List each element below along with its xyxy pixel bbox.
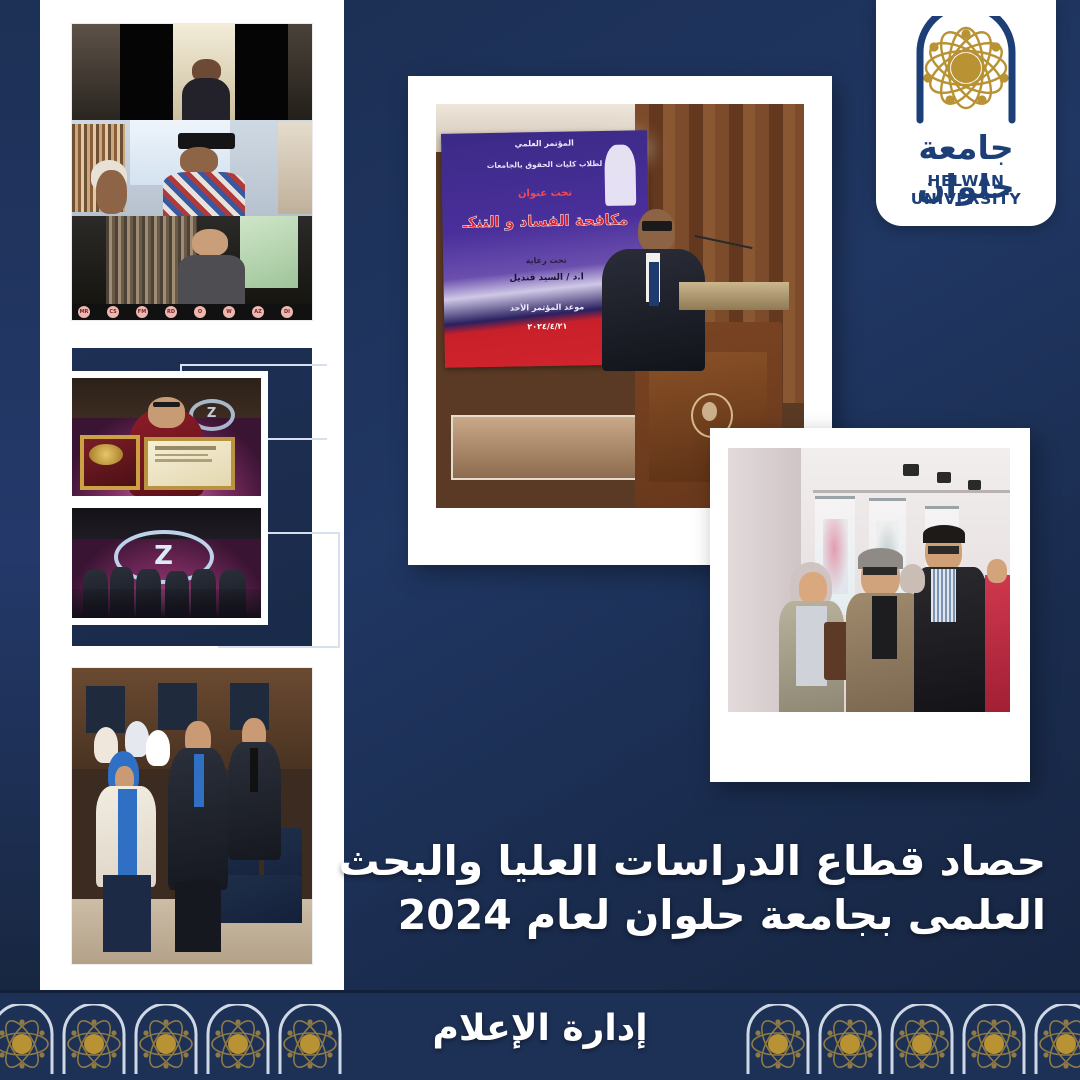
participant-initial: CS	[107, 306, 119, 318]
participant-initial: AZ	[252, 306, 264, 318]
photo-award-ceremony-hall: Z	[72, 508, 261, 618]
atom-icon	[904, 16, 1028, 126]
left-edge-strip	[0, 0, 40, 1001]
participant-initial: FM	[136, 306, 148, 318]
participant-initial: MR	[78, 306, 90, 318]
participant-initial: O	[194, 306, 206, 318]
video-tile-row-2	[72, 120, 312, 216]
photo-conference-audience-standing	[72, 668, 312, 964]
headline-line-1: حصاد قطاع الدراسات العليا والبحث	[360, 834, 1046, 888]
poster-canvas: MR CS FM RD O W AZ DI Z	[0, 0, 1080, 1080]
footer-bar: إدارة الإعلام	[0, 990, 1080, 1080]
photo-online-thesis-defense-video-call: MR CS FM RD O W AZ DI	[72, 24, 312, 320]
participant-initials-bar: MR CS FM RD O W AZ DI	[72, 304, 312, 320]
photo-award-recipient-holding-certificate: Z	[72, 378, 261, 496]
photo-art-exhibition-visitors	[728, 448, 1010, 712]
participant-initial: W	[223, 306, 235, 318]
left-photo-column: MR CS FM RD O W AZ DI Z	[40, 0, 344, 1001]
video-tile-row-1	[72, 24, 312, 120]
page-title: حصاد قطاع الدراسات العليا والبحث العلمى …	[360, 834, 1046, 942]
helwan-university-logo-card: جامعة حلوان HELWAN UNIVERSITY	[876, 0, 1056, 226]
footer-label: إدارة الإعلام	[0, 1008, 1080, 1049]
banner-title: مكافحة الفساد و التنكـ	[443, 210, 649, 232]
speaker-head	[638, 209, 675, 253]
banner-base-panel	[451, 415, 646, 480]
photo-card-art-exhibition	[710, 428, 1030, 782]
headline-line-2: العلمى بجامعة حلوان لعام 2024	[360, 888, 1046, 942]
video-tile-row-3	[72, 216, 312, 308]
footer-divider	[0, 990, 1080, 993]
logo-english-name: HELWAN UNIVERSITY	[876, 172, 1056, 208]
participant-initial: DI	[281, 306, 293, 318]
participant-initial: RD	[165, 306, 177, 318]
